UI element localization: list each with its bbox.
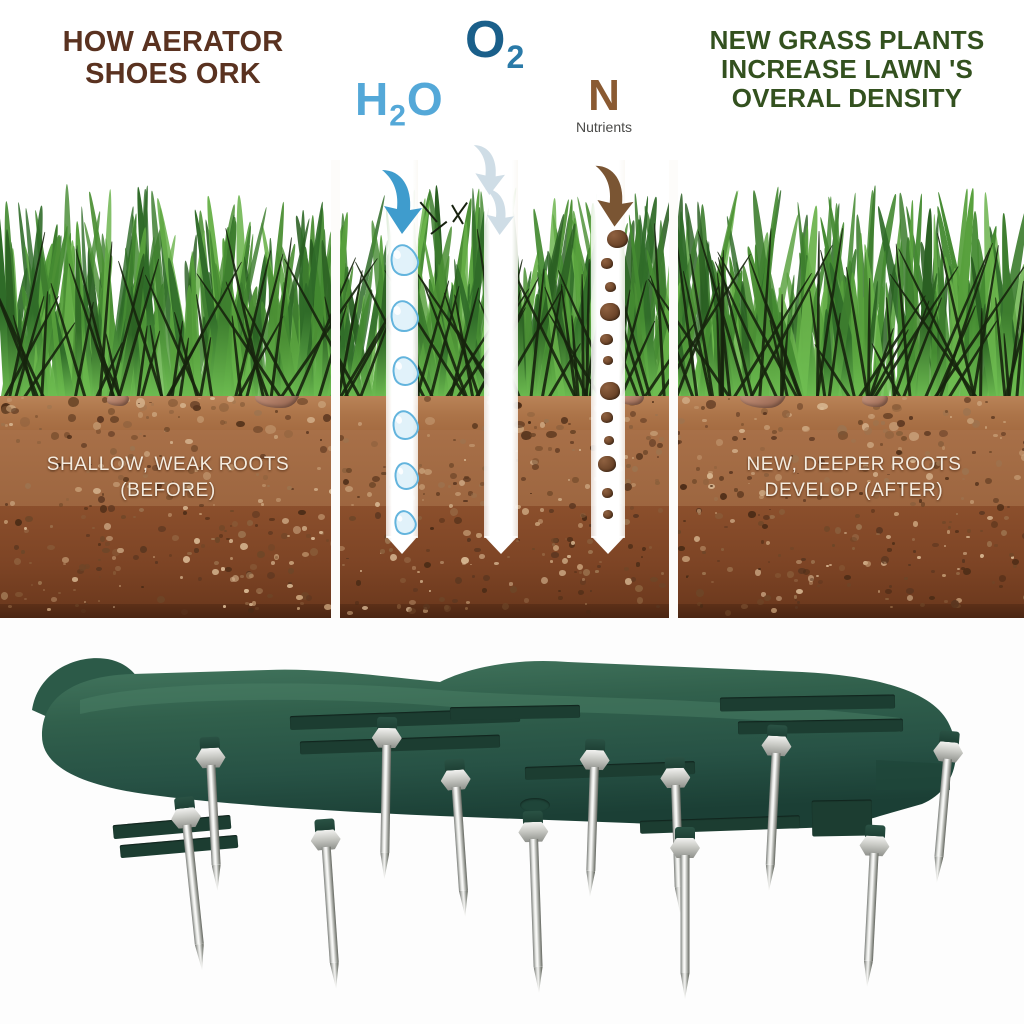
soil-pebble bbox=[37, 441, 40, 443]
soil-pebble bbox=[962, 559, 966, 562]
soil-pebble bbox=[168, 399, 178, 407]
soil-pebble bbox=[98, 543, 101, 546]
soil-pebble bbox=[977, 401, 982, 406]
soil-pebble bbox=[224, 530, 227, 532]
soil-pebble bbox=[741, 604, 747, 609]
soil-pebble bbox=[967, 418, 974, 424]
panel-divider bbox=[331, 160, 340, 618]
soil-pebble bbox=[779, 509, 786, 515]
soil-pebble bbox=[131, 435, 138, 440]
soil-pebble bbox=[282, 518, 289, 524]
soil-pebble bbox=[945, 410, 948, 413]
soil-pebble bbox=[535, 446, 543, 452]
aerator-spike bbox=[670, 838, 700, 1002]
soil-pebble bbox=[502, 603, 509, 610]
soil-pebble bbox=[318, 514, 325, 520]
soil-pebble bbox=[460, 439, 466, 444]
soil-pebble bbox=[347, 611, 352, 615]
soil-pebble bbox=[656, 449, 662, 454]
soil-pebble bbox=[72, 577, 79, 582]
soil-pebble bbox=[873, 420, 879, 426]
soil-pebble bbox=[851, 439, 856, 443]
soil-pebble bbox=[157, 596, 165, 603]
soil-pebble bbox=[355, 601, 359, 605]
soil-pebble bbox=[380, 549, 386, 553]
soil-pebble bbox=[906, 588, 913, 594]
soil-pebble bbox=[683, 520, 686, 522]
water-symbol-h: H bbox=[355, 73, 389, 125]
panel-divider bbox=[669, 160, 678, 618]
soil-pebble bbox=[423, 609, 428, 612]
soil-pebble bbox=[302, 526, 307, 530]
soil-pebble bbox=[35, 415, 38, 418]
soil-pebble bbox=[572, 477, 579, 484]
soil-pebble bbox=[287, 535, 289, 537]
soil-pebble bbox=[748, 511, 755, 517]
soil-pebble bbox=[997, 504, 1005, 510]
soil-pebble bbox=[151, 403, 154, 405]
soil-pebble bbox=[96, 429, 101, 433]
soil-pebble bbox=[950, 416, 952, 418]
soil-pebble bbox=[569, 503, 576, 509]
soil-pebble bbox=[476, 533, 481, 538]
soil-pebble bbox=[541, 577, 548, 584]
soil-pebble bbox=[715, 513, 723, 518]
soil-pebble bbox=[199, 504, 204, 507]
soil-pebble bbox=[599, 561, 602, 563]
soil-pebble bbox=[121, 515, 126, 519]
soil-pebble bbox=[582, 578, 585, 581]
soil-pebble bbox=[21, 550, 25, 554]
soil-pebble bbox=[540, 508, 544, 512]
water-symbol-o: O bbox=[407, 73, 444, 125]
soil-pebble bbox=[139, 433, 141, 435]
soil-pebble bbox=[920, 603, 925, 607]
soil-pebble bbox=[782, 410, 790, 417]
soil-pebble bbox=[538, 519, 543, 524]
soil-pebble bbox=[728, 398, 730, 400]
spike-shaft bbox=[766, 753, 781, 865]
caption-before: SHALLOW, WEAK ROOTS (BEFORE) bbox=[8, 452, 328, 503]
soil-pebble bbox=[139, 508, 144, 512]
soil-pebble bbox=[289, 561, 294, 565]
infographic-page: HOW AERATOR SHOES ORK NEW GRASS PLANTS I… bbox=[0, 0, 1024, 1024]
soil-pebble bbox=[881, 421, 885, 424]
soil-pebble bbox=[462, 562, 465, 565]
spike-point bbox=[932, 856, 943, 883]
soil-pebble bbox=[633, 514, 639, 518]
soil-pebble bbox=[963, 552, 966, 555]
water-symbol-subscript: 2 bbox=[389, 100, 407, 133]
soil-pebble bbox=[771, 608, 777, 613]
soil-pebble bbox=[548, 447, 552, 450]
nutrient-particle-icon bbox=[598, 456, 616, 472]
soil-pebble bbox=[890, 606, 893, 608]
soil-pebble bbox=[924, 431, 931, 436]
soil-pebble bbox=[686, 575, 689, 577]
soil-pebble bbox=[568, 479, 570, 480]
soil-pebble bbox=[938, 441, 944, 447]
spike-point bbox=[195, 944, 207, 971]
nutrient-particle-icon bbox=[603, 356, 613, 365]
spike-point bbox=[534, 967, 544, 993]
soil-pebble bbox=[764, 595, 772, 601]
soil-pebble bbox=[540, 422, 546, 427]
soil-pebble bbox=[817, 403, 828, 410]
soil-pebble bbox=[931, 570, 935, 573]
soil-pebble bbox=[7, 398, 11, 401]
spike-point bbox=[212, 865, 222, 891]
soil-pebble bbox=[787, 571, 794, 577]
soil-pebble bbox=[883, 413, 892, 419]
soil-pebble bbox=[993, 434, 998, 437]
soil-pebble bbox=[580, 513, 587, 518]
soil-pebble bbox=[816, 575, 818, 577]
soil-pebble bbox=[574, 571, 577, 573]
soil-pebble bbox=[267, 594, 272, 598]
oxygen-symbol-o: O bbox=[465, 11, 506, 69]
soil-pebble bbox=[92, 527, 94, 529]
spike-point bbox=[330, 962, 341, 989]
soil-pebble bbox=[838, 431, 849, 439]
soil-pebble bbox=[583, 569, 590, 576]
caption-after: NEW, DEEPER ROOTS DEVELOP (AFTER) bbox=[694, 452, 1014, 503]
soil-pebble bbox=[211, 406, 216, 410]
soil-pebble bbox=[550, 560, 553, 562]
nutrient-particle-icon bbox=[600, 303, 620, 321]
soil-pebble bbox=[155, 561, 158, 563]
soil-pebble bbox=[572, 449, 575, 451]
soil-pebble bbox=[794, 579, 797, 582]
flow-arrow-icon bbox=[372, 166, 428, 238]
soil-pebble bbox=[310, 548, 318, 556]
soil-pebble bbox=[113, 571, 117, 574]
soil-pebble bbox=[98, 600, 100, 602]
soil-pebble bbox=[275, 556, 278, 559]
soil-pebble bbox=[1001, 432, 1006, 436]
soil-pebble bbox=[1003, 421, 1006, 423]
soil-pebble bbox=[287, 584, 293, 588]
headline-right: NEW GRASS PLANTS INCREASE LAWN 'S OVERAL… bbox=[682, 26, 1012, 113]
soil-pebble bbox=[682, 397, 690, 404]
soil-pebble bbox=[657, 456, 659, 458]
soil-pebble bbox=[797, 601, 800, 604]
soil-pebble bbox=[694, 406, 699, 409]
soil-pebble bbox=[570, 441, 574, 443]
water-symbol: H2O bbox=[355, 72, 444, 134]
soil-pebble bbox=[697, 509, 701, 512]
aeration-diagram-panel: HOW AERATOR SHOES ORK NEW GRASS PLANTS I… bbox=[0, 0, 1024, 618]
soil-pebble bbox=[427, 434, 430, 437]
soil-pebble bbox=[474, 548, 480, 553]
soil-pebble bbox=[232, 521, 238, 527]
soil-pebble bbox=[595, 570, 599, 573]
soil-pebble bbox=[509, 582, 514, 586]
soil-pebble bbox=[628, 544, 633, 549]
soil-pebble bbox=[839, 565, 845, 570]
soil-pebble bbox=[319, 531, 323, 534]
soil-pebble bbox=[901, 436, 907, 441]
headline-left: HOW AERATOR SHOES ORK bbox=[18, 26, 328, 91]
soil-pebble bbox=[230, 525, 232, 527]
soil-pebble bbox=[318, 401, 325, 408]
soil-pebble bbox=[81, 609, 85, 613]
soil-pebble bbox=[524, 598, 529, 602]
soil-pebble bbox=[14, 545, 19, 550]
soil-pebble bbox=[964, 397, 971, 403]
spike-shaft bbox=[182, 824, 203, 944]
soil-pebble bbox=[696, 589, 703, 596]
nitrogen-symbol: N bbox=[566, 74, 642, 118]
soil-pebble bbox=[104, 523, 111, 530]
soil-pebble bbox=[96, 567, 102, 571]
soil-pebble bbox=[585, 484, 590, 488]
soil-pebble bbox=[466, 601, 471, 604]
spike-shaft bbox=[681, 855, 690, 973]
soil-pebble bbox=[678, 546, 685, 550]
soil-pebble bbox=[547, 491, 552, 496]
soil-pebble bbox=[635, 585, 643, 592]
soil-pebble bbox=[562, 558, 568, 564]
flow-arrow-icon bbox=[586, 162, 639, 230]
soil-pebble bbox=[532, 464, 540, 470]
soil-pebble bbox=[636, 453, 643, 459]
soil-pebble bbox=[471, 493, 477, 497]
soil-pebble bbox=[768, 561, 770, 563]
soil-pebble bbox=[630, 411, 636, 417]
spike-shaft bbox=[864, 853, 879, 961]
soil-pebble bbox=[140, 546, 147, 553]
soil-pebble bbox=[245, 602, 249, 605]
soil-pebble bbox=[84, 601, 86, 603]
soil-pebble bbox=[700, 604, 703, 607]
soil-pebble bbox=[15, 592, 23, 597]
soil-pebble bbox=[227, 396, 233, 401]
soil-pebble bbox=[9, 423, 12, 426]
soil-pebble bbox=[413, 588, 418, 591]
soil-pebble bbox=[761, 540, 764, 543]
spike-shaft bbox=[380, 745, 391, 853]
soil-pebble bbox=[724, 526, 727, 529]
soil-pebble bbox=[255, 524, 258, 527]
soil-pebble bbox=[810, 578, 814, 581]
soil-pebble bbox=[994, 544, 998, 547]
soil-pebble bbox=[194, 538, 200, 544]
spike-point bbox=[459, 890, 470, 917]
soil-pebble bbox=[844, 575, 852, 580]
soil-pebble bbox=[871, 509, 875, 513]
spike-shaft bbox=[934, 759, 952, 857]
soil-pebble bbox=[108, 505, 115, 511]
soil-pebble bbox=[390, 554, 397, 561]
soil-pebble bbox=[51, 432, 59, 439]
soil-pebble bbox=[659, 437, 663, 441]
soil-pebble bbox=[31, 584, 33, 586]
soil-pebble bbox=[296, 595, 302, 600]
nutrient-particle-icon bbox=[600, 382, 620, 400]
soil-pebble bbox=[123, 421, 132, 428]
soil-pebble bbox=[880, 443, 883, 445]
soil-pebble bbox=[987, 541, 993, 547]
soil-pebble bbox=[885, 431, 894, 438]
soil-pebble bbox=[168, 513, 172, 517]
spike-shaft bbox=[586, 767, 599, 871]
soil-pebble bbox=[858, 420, 863, 425]
spike-shaft bbox=[206, 765, 220, 865]
sole-vent-slot bbox=[450, 705, 580, 720]
soil-pebble bbox=[375, 512, 381, 518]
soil-pebble bbox=[624, 483, 632, 491]
oxygen-symbol-subscript: 2 bbox=[506, 39, 525, 75]
soil-pebble bbox=[67, 435, 71, 439]
spike-shaft bbox=[322, 847, 339, 963]
soil-pebble bbox=[556, 425, 564, 431]
flow-arrow-icon bbox=[478, 186, 518, 238]
soil-pebble bbox=[345, 486, 353, 492]
spike-shaft bbox=[529, 839, 542, 967]
soil-pebble bbox=[455, 577, 462, 584]
soil-pebble bbox=[306, 534, 310, 537]
soil-pebble bbox=[84, 507, 88, 510]
soil-pebble bbox=[586, 610, 591, 614]
soil-pebble bbox=[197, 416, 204, 423]
soil-pebble bbox=[680, 484, 687, 490]
soil-pebble bbox=[727, 567, 732, 572]
sole-vent-slot bbox=[812, 799, 873, 836]
soil-pebble bbox=[248, 608, 253, 613]
soil-pebble bbox=[221, 567, 226, 571]
soil-pebble bbox=[755, 569, 761, 575]
soil-pebble bbox=[464, 459, 466, 461]
soil-pebble bbox=[119, 585, 121, 587]
soil-pebble bbox=[494, 562, 499, 565]
soil-pebble bbox=[832, 544, 835, 547]
soil-pebble bbox=[632, 457, 634, 459]
soil-pebble bbox=[349, 516, 356, 521]
soil-pebble bbox=[624, 567, 628, 571]
spike-shaft bbox=[452, 787, 468, 891]
soil-pebble bbox=[963, 408, 971, 416]
soil-pebble bbox=[459, 480, 466, 486]
soil-pebble bbox=[760, 447, 765, 452]
soil-pebble bbox=[992, 581, 994, 583]
soil-pebble bbox=[871, 414, 873, 415]
soil-pebble bbox=[632, 466, 638, 472]
soil-pebble bbox=[725, 610, 731, 616]
soil-pebble bbox=[183, 511, 187, 515]
soil-pebble bbox=[571, 541, 575, 545]
soil-pebble bbox=[795, 606, 798, 609]
soil-pebble bbox=[81, 443, 87, 448]
soil-pebble bbox=[99, 576, 101, 578]
soil-pebble bbox=[136, 398, 146, 408]
soil-pebble bbox=[343, 479, 349, 485]
nutrient-symbol-group: N Nutrients bbox=[566, 74, 642, 135]
soil-pebble bbox=[516, 540, 519, 542]
soil-pebble bbox=[757, 599, 764, 605]
soil-pebble bbox=[534, 426, 537, 428]
soil-pebble bbox=[423, 604, 429, 610]
nutrient-particle-icon bbox=[603, 510, 613, 519]
spike-point bbox=[585, 871, 595, 897]
soil-pebble bbox=[949, 521, 952, 523]
soil-pebble bbox=[624, 417, 630, 422]
soil-pebble bbox=[255, 607, 258, 609]
soil-pebble bbox=[105, 542, 110, 545]
soil-pebble bbox=[75, 604, 79, 607]
soil-pebble bbox=[551, 552, 558, 557]
soil-pebble bbox=[252, 511, 260, 519]
nutrient-label: Nutrients bbox=[566, 119, 642, 135]
soil-pebble bbox=[247, 520, 253, 526]
soil-pebble bbox=[24, 527, 27, 530]
soil-pebble bbox=[448, 485, 451, 488]
soil-pebble bbox=[913, 521, 918, 527]
soil-pebble bbox=[655, 481, 661, 485]
soil-pebble bbox=[194, 548, 198, 552]
soil-pebble bbox=[561, 417, 568, 423]
soil-pebble bbox=[86, 534, 90, 537]
soil-pebble bbox=[214, 561, 219, 565]
soil-pebble bbox=[453, 482, 456, 485]
soil-pebble bbox=[1009, 553, 1013, 557]
soil-pebble bbox=[909, 432, 919, 440]
soil-pebble bbox=[450, 508, 458, 516]
soil-pebble bbox=[885, 589, 892, 594]
soil-pebble bbox=[47, 545, 55, 550]
soil-pebble bbox=[809, 437, 815, 442]
soil-pebble bbox=[763, 412, 767, 415]
soil-pebble bbox=[183, 506, 188, 510]
soil-pebble bbox=[796, 560, 802, 564]
nutrient-particle-icon bbox=[605, 282, 616, 292]
soil-pebble bbox=[343, 438, 349, 443]
soil-pebble bbox=[412, 566, 416, 569]
soil-pebble bbox=[223, 605, 226, 608]
soil-pebble bbox=[479, 554, 485, 559]
soil-pebble bbox=[169, 554, 172, 557]
soil-pebble bbox=[999, 575, 1007, 582]
soil-pebble bbox=[98, 559, 101, 561]
spike-point bbox=[764, 865, 774, 891]
soil-pebble bbox=[24, 598, 26, 600]
soil-pebble bbox=[326, 539, 329, 542]
soil-pebble bbox=[199, 513, 202, 515]
nutrient-particle-icon bbox=[601, 412, 613, 423]
aerator-spike bbox=[369, 728, 402, 883]
soil-pebble bbox=[579, 449, 581, 451]
soil-pebble bbox=[68, 414, 76, 421]
soil-pebble bbox=[152, 412, 158, 416]
soil-pebble bbox=[772, 430, 777, 434]
soil-pebble bbox=[252, 601, 256, 605]
soil-pebble bbox=[637, 597, 644, 603]
oxygen-symbol: O2 bbox=[465, 10, 525, 76]
soil-pebble bbox=[985, 401, 988, 403]
soil-pebble bbox=[285, 415, 291, 420]
soil-pebble bbox=[238, 531, 245, 538]
soil-pebble bbox=[546, 431, 556, 438]
soil-pebble bbox=[201, 544, 205, 548]
soil-pebble bbox=[169, 410, 173, 414]
soil-pebble bbox=[904, 577, 908, 580]
soil-pebble bbox=[559, 570, 566, 575]
soil-pebble bbox=[528, 421, 531, 424]
soil-pebble bbox=[261, 503, 264, 505]
soil-pebble bbox=[552, 543, 555, 546]
soil-pebble bbox=[999, 585, 1003, 588]
soil-pebble bbox=[47, 608, 51, 611]
